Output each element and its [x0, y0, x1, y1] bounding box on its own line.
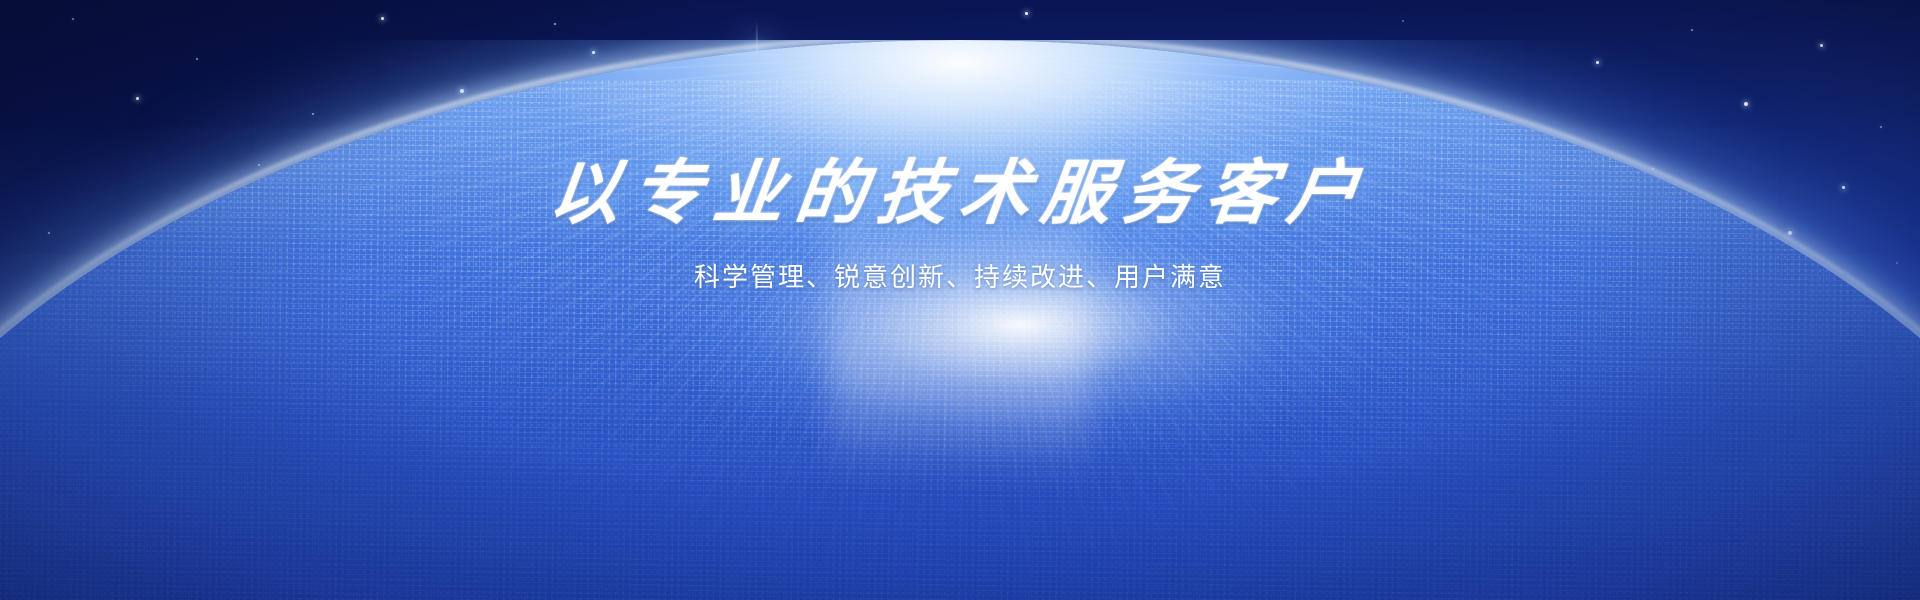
- hero-headline: 以专业的技术服务客户: [0, 150, 1920, 235]
- hero-subheadline: 科学管理、锐意创新、持续改进、用户满意: [0, 257, 1920, 294]
- star: [1025, 12, 1028, 15]
- star: [381, 17, 384, 20]
- star: [1402, 20, 1404, 22]
- hero-banner: 以专业的技术服务客户 科学管理、锐意创新、持续改进、用户满意: [0, 0, 1920, 600]
- star: [554, 23, 556, 25]
- star: [72, 18, 74, 20]
- hero-text-block: 以专业的技术服务客户 科学管理、锐意创新、持续改进、用户满意: [0, 150, 1920, 294]
- star: [1691, 29, 1693, 31]
